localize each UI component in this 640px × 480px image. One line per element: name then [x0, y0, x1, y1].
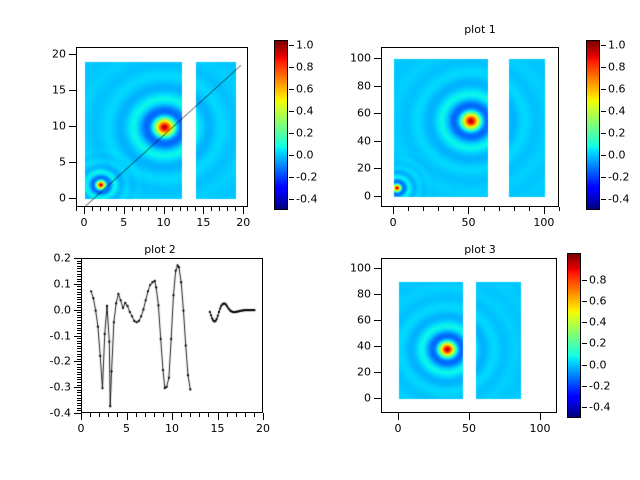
axis-tick [77, 302, 81, 303]
axis-tick [69, 90, 76, 91]
axis-tick [77, 333, 81, 334]
axis-tick-label: -0.4 [296, 193, 317, 206]
axis-tick [199, 413, 200, 417]
axis-tick [84, 207, 85, 214]
axis-tick [117, 413, 118, 417]
axis-tick-label: 20 [320, 365, 371, 378]
axis-tick [77, 292, 81, 293]
axis-tick [374, 294, 381, 295]
axis-tick [374, 141, 381, 142]
axis-tick [69, 198, 76, 199]
axis-tick [544, 207, 545, 214]
axis-tick [601, 133, 606, 134]
axis-tick-label: 0.4 [589, 316, 607, 329]
heatmap-image-plot-1 [382, 48, 559, 207]
axis-tick [74, 361, 81, 362]
axis-tick [374, 320, 381, 321]
axis-tick [219, 207, 220, 211]
axis-tick-label: 20 [320, 162, 371, 175]
axis-tick [77, 348, 81, 349]
axis-tick [77, 395, 81, 396]
axis-tick [127, 413, 128, 420]
axis-tick-label: 50 [462, 422, 476, 435]
axis-tick [499, 207, 500, 211]
axis-tick-label: 80 [320, 288, 371, 301]
axis-tick [77, 323, 81, 324]
axis-tick-label: 0.6 [589, 294, 607, 307]
colorbar-top-left [274, 40, 288, 210]
axis-tick [289, 45, 294, 46]
axis-tick [195, 207, 196, 211]
axis-tick-label: -0.2 [0, 355, 71, 368]
panel-top-right: plot 1 0501000204060801001.00.80.60.40.2… [320, 0, 640, 240]
axis-tick-label: -0.3 [0, 381, 71, 394]
axis-tick [582, 386, 587, 387]
axis-tick [77, 315, 81, 316]
axis-tick [77, 261, 81, 262]
axis-tick [148, 207, 149, 211]
axis-tick-label: 40 [320, 339, 371, 352]
axis-tick [77, 274, 81, 275]
axis-tick [453, 207, 454, 211]
axis-tick [74, 284, 81, 285]
heatmap-image-plot-3 [382, 259, 557, 413]
axis-tick-label: 5 [0, 156, 66, 169]
axes-plot-2 [81, 258, 263, 413]
axis-tick-label: 0 [320, 391, 371, 404]
axis-tick-label: 0.2 [0, 252, 71, 265]
axis-tick [77, 307, 81, 308]
axis-tick [582, 322, 587, 323]
line-series-plot-2 [82, 259, 263, 413]
axis-tick-label: -0.1 [0, 329, 71, 342]
axis-tick [77, 369, 81, 370]
axis-tick-label: 15 [0, 84, 66, 97]
axis-tick [181, 413, 182, 417]
axis-tick [172, 413, 173, 420]
axis-tick [77, 279, 81, 280]
axis-tick [100, 207, 101, 211]
axis-tick [74, 258, 81, 259]
axis-tick [289, 155, 294, 156]
axis-tick-label: 0.0 [0, 303, 71, 316]
axis-tick [601, 67, 606, 68]
axis-tick-label: 0.4 [608, 105, 626, 118]
axis-tick [77, 286, 81, 287]
axis-tick-label: 50 [461, 216, 475, 229]
axis-tick [374, 58, 381, 59]
axis-tick-label: -0.4 [0, 407, 71, 420]
axis-tick [69, 162, 76, 163]
axis-tick-label: 15 [211, 422, 225, 435]
axis-tick [468, 207, 469, 214]
axis-tick-label: 10 [157, 216, 171, 229]
axis-tick [289, 177, 294, 178]
axis-tick [203, 207, 204, 214]
axis-tick-label: 0.0 [296, 149, 314, 162]
axis-tick [77, 390, 81, 391]
axis-tick [243, 207, 244, 214]
axis-tick [180, 207, 181, 211]
axis-tick [208, 413, 209, 417]
axis-tick [211, 207, 212, 211]
axis-tick [74, 387, 81, 388]
axis-tick [601, 155, 606, 156]
axis-tick [374, 196, 381, 197]
axes-plot-1 [381, 47, 559, 207]
axis-tick [77, 341, 81, 342]
axis-tick [601, 111, 606, 112]
axis-tick [77, 354, 81, 355]
axis-tick-label: 0.0 [608, 149, 626, 162]
axis-tick-label: -0.2 [589, 380, 610, 393]
panel-bottom-left: plot 2 051015200.20.10.0-0.1-0.2-0.3-0.4 [0, 240, 320, 480]
axis-tick-label: 0 [320, 189, 371, 202]
axis-tick-label: 100 [320, 52, 371, 65]
axis-tick [77, 385, 81, 386]
axis-tick [132, 207, 133, 211]
axis-tick-label: 10 [165, 422, 179, 435]
axis-tick [582, 407, 587, 408]
axis-tick [77, 299, 81, 300]
axis-tick-label: -0.2 [296, 171, 317, 184]
axis-tick-label: 10 [0, 120, 66, 133]
axis-tick [163, 413, 164, 417]
axis-tick [263, 413, 264, 420]
axis-tick [99, 413, 100, 417]
axis-tick [164, 207, 165, 214]
axis-tick [77, 276, 81, 277]
axis-tick [77, 351, 81, 352]
axis-tick [124, 207, 125, 214]
axis-tick [374, 268, 381, 269]
axis-tick [374, 398, 381, 399]
axis-tick [438, 207, 439, 211]
axis-tick [514, 207, 515, 211]
axis-tick-label: 0.8 [589, 273, 607, 286]
axis-tick [77, 400, 81, 401]
axis-tick [529, 207, 530, 211]
axis-tick [154, 413, 155, 417]
axis-tick [77, 305, 81, 306]
axis-tick-label: 0.4 [296, 105, 314, 118]
axis-tick [140, 207, 141, 211]
axis-tick-label: 0.2 [608, 127, 626, 140]
axis-tick-label: 0.0 [589, 358, 607, 371]
axis-tick-label: -0.4 [589, 401, 610, 414]
axis-tick [92, 207, 93, 211]
axis-tick-label: 0.2 [296, 127, 314, 140]
axis-tick [254, 413, 255, 417]
axis-tick [374, 346, 381, 347]
axis-tick [289, 199, 294, 200]
axis-tick [601, 89, 606, 90]
axis-tick [374, 113, 381, 114]
axis-tick [77, 320, 81, 321]
axis-tick [116, 207, 117, 211]
axis-tick [77, 359, 81, 360]
axis-tick-label: 1.0 [296, 39, 314, 52]
axis-tick-label: 0 [78, 422, 85, 435]
axis-tick [559, 207, 560, 211]
axis-tick [190, 413, 191, 417]
axis-tick [187, 207, 188, 211]
axis-tick [81, 413, 82, 420]
axis-tick [582, 343, 587, 344]
axis-tick [423, 207, 424, 211]
axis-tick [77, 330, 81, 331]
colorbar-plot-3 [567, 253, 581, 418]
panel-title-plot-3: plot 3 [320, 243, 640, 256]
axis-tick-label: 0 [395, 422, 402, 435]
axis-tick [108, 207, 109, 211]
axis-tick [601, 177, 606, 178]
panel-title-plot-1: plot 1 [320, 23, 640, 36]
axis-tick [374, 86, 381, 87]
axis-tick-label: 0.6 [296, 83, 314, 96]
axis-tick [408, 207, 409, 211]
axis-tick [77, 398, 81, 399]
axis-tick-label: 0 [390, 216, 397, 229]
axis-tick [77, 312, 81, 313]
axis-tick-label: 40 [320, 134, 371, 147]
heatmap-image-top-left [77, 48, 248, 207]
axis-tick [77, 281, 81, 282]
axis-tick [74, 310, 81, 311]
axis-tick [77, 343, 81, 344]
axis-tick-label: 1.0 [608, 39, 626, 52]
axis-tick-label: 80 [320, 79, 371, 92]
axis-tick [374, 168, 381, 169]
panel-top-left: 05101520051015201.00.80.60.40.20.0-0.2-0… [0, 0, 320, 240]
axis-tick [77, 356, 81, 357]
axis-tick [601, 45, 606, 46]
axis-tick-label: 0.1 [0, 277, 71, 290]
axis-tick [90, 413, 91, 417]
axes-plot-3 [381, 258, 557, 413]
axis-tick-label: -0.2 [608, 171, 629, 184]
axis-tick-label: 0.8 [608, 61, 626, 74]
axis-tick [582, 280, 587, 281]
axis-tick [77, 317, 81, 318]
axis-tick-label: 100 [533, 216, 554, 229]
axis-tick [77, 325, 81, 326]
axis-tick [172, 207, 173, 211]
axis-tick [77, 408, 81, 409]
figure-canvas: 05101520051015201.00.80.60.40.20.0-0.2-0… [0, 0, 640, 480]
axis-tick [218, 413, 219, 420]
axis-tick [393, 207, 394, 214]
axis-tick-label: 0 [0, 192, 66, 205]
axis-tick [69, 54, 76, 55]
axis-tick [289, 89, 294, 90]
axis-tick-label: 0.6 [608, 83, 626, 96]
axis-tick [69, 126, 76, 127]
axis-tick [77, 367, 81, 368]
axis-tick [77, 289, 81, 290]
axis-tick [77, 268, 81, 269]
axis-tick [77, 263, 81, 264]
colorbar-plot-1 [586, 40, 600, 210]
axes-top-left [76, 47, 248, 207]
axis-tick [235, 207, 236, 211]
axis-tick-label: 20 [236, 216, 250, 229]
axis-tick [601, 199, 606, 200]
axis-tick [77, 338, 81, 339]
axis-tick [77, 374, 81, 375]
axis-tick [484, 207, 485, 211]
axis-tick [398, 413, 399, 420]
axis-tick [227, 413, 228, 417]
axis-tick [77, 382, 81, 383]
axis-tick [289, 67, 294, 68]
axis-tick [289, 133, 294, 134]
axis-tick-label: 15 [196, 216, 210, 229]
axis-tick-label: -0.4 [608, 193, 629, 206]
axis-tick [74, 336, 81, 337]
axis-tick-label: 100 [320, 262, 371, 275]
axis-tick [245, 413, 246, 417]
axis-tick [108, 413, 109, 417]
axis-tick [77, 266, 81, 267]
axis-tick [540, 413, 541, 420]
axis-tick [227, 207, 228, 211]
axis-tick [77, 410, 81, 411]
axis-tick [582, 301, 587, 302]
axis-tick [77, 271, 81, 272]
axis-tick [77, 297, 81, 298]
axis-tick [582, 365, 587, 366]
axis-tick [77, 377, 81, 378]
axis-tick [77, 372, 81, 373]
axis-tick [374, 372, 381, 373]
axis-tick-label: 20 [0, 48, 66, 61]
axis-tick [77, 379, 81, 380]
panel-bottom-right: plot 3 0501000204060801000.80.60.40.20.0… [320, 240, 640, 480]
axis-tick [77, 392, 81, 393]
axis-tick [74, 413, 81, 414]
axis-tick [136, 413, 137, 417]
axis-tick [77, 328, 81, 329]
axis-tick-label: 0 [80, 216, 87, 229]
axis-tick [469, 413, 470, 420]
axis-tick-label: 60 [320, 314, 371, 327]
axis-tick [145, 413, 146, 417]
axis-tick [77, 364, 81, 365]
axis-tick-label: 20 [256, 422, 270, 435]
axis-tick-label: 0.2 [589, 337, 607, 350]
axis-tick [236, 413, 237, 417]
axis-tick-label: 0.8 [296, 61, 314, 74]
axis-tick-label: 5 [120, 216, 127, 229]
axis-tick [289, 111, 294, 112]
axis-tick [156, 207, 157, 211]
axis-tick-label: 60 [320, 107, 371, 120]
axis-tick [77, 405, 81, 406]
axis-tick [77, 294, 81, 295]
axis-tick [77, 346, 81, 347]
axis-tick [76, 207, 77, 211]
axis-tick-label: 100 [529, 422, 550, 435]
axis-tick-label: 5 [123, 422, 130, 435]
axis-tick [77, 403, 81, 404]
